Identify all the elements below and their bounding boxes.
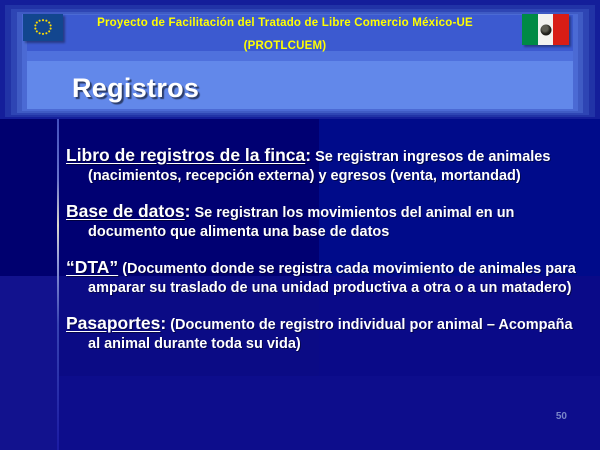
bullet-separator: :	[160, 313, 166, 333]
background-block-left	[0, 118, 57, 450]
mexico-flag-green-stripe	[522, 14, 538, 45]
mexico-flag-white-stripe	[538, 14, 554, 45]
bullet-separator: :	[305, 145, 311, 165]
bullet-item: Libro de registros de la finca: Se regis…	[66, 144, 586, 185]
background-block-lower-left	[0, 276, 57, 450]
bullet-description: (Documento donde se registra cada movimi…	[88, 261, 576, 296]
bullet-item: Pasaportes: (Documento de registro indiv…	[66, 312, 586, 353]
bullet-lead-term: “DTA”	[66, 257, 118, 277]
bullet-item: “DTA” (Documento donde se registra cada …	[66, 256, 586, 297]
bullet-lead-term: Base de datos	[66, 201, 185, 221]
european-union-flag-icon	[23, 14, 63, 41]
mexico-flag-icon	[522, 14, 569, 45]
bullet-item: Base de datos: Se registran los movimien…	[66, 200, 586, 241]
bullet-separator: :	[185, 201, 191, 221]
slide-body: Libro de registros de la finca: Se regis…	[66, 144, 586, 368]
slide-page-number: 50	[556, 411, 567, 422]
bullet-lead-term: Libro de registros de la finca	[66, 145, 305, 165]
mexico-coat-of-arms-emblem	[540, 24, 551, 35]
header-banner: Proyecto de Facilitación del Tratado de …	[0, 0, 600, 119]
project-name-line-1: Proyecto de Facilitación del Tratado de …	[60, 17, 510, 29]
slide-title: Registros	[72, 73, 199, 104]
mexico-flag-red-stripe	[553, 14, 569, 45]
header-secondary-band	[27, 51, 573, 61]
bullet-lead-term: Pasaportes	[66, 313, 160, 333]
presentation-slide: Proyecto de Facilitación del Tratado de …	[0, 0, 600, 450]
project-acronym-line-2: (PROTLCUEM)	[60, 40, 510, 52]
background-block-bottom	[57, 376, 600, 450]
